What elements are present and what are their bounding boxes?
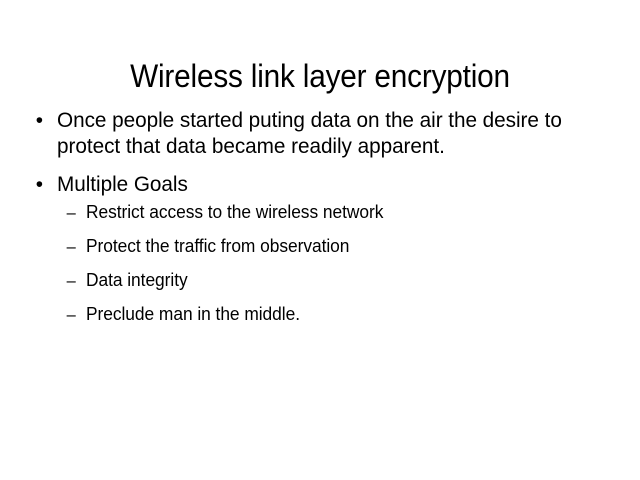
bullet-marker-dot-icon: • <box>36 172 43 198</box>
bullet-marker-dot-icon: • <box>36 108 43 134</box>
sub-bullet-text: Preclude man in the middle. <box>86 304 300 324</box>
bullet-text: Once people started puting data on the a… <box>57 108 583 159</box>
sub-bullet-text: Protect the traffic from observation <box>86 236 349 256</box>
sub-bullet-item: – Restrict access to the wireless networ… <box>30 202 590 223</box>
bullet-item: • Multiple Goals <box>30 172 590 198</box>
sub-bullet-text: Data integrity <box>86 270 188 290</box>
sub-bullet-item: – Protect the traffic from observation <box>30 236 590 257</box>
bullet-item: • Once people started puting data on the… <box>30 108 590 159</box>
bullet-marker-dash-icon: – <box>67 270 76 291</box>
bullet-marker-dash-icon: – <box>67 202 76 223</box>
sub-bullet-item: – Data integrity <box>30 270 590 291</box>
slide-title: Wireless link layer encryption <box>22 57 617 95</box>
sub-bullet-list: – Restrict access to the wireless networ… <box>30 202 610 325</box>
bullet-text: Multiple Goals <box>57 172 583 198</box>
slide-body-outline: • Once people started puting data on the… <box>30 108 610 325</box>
presentation-slide: Wireless link layer encryption • Once pe… <box>0 0 640 480</box>
sub-bullet-text: Restrict access to the wireless network <box>86 202 383 222</box>
bullet-marker-dash-icon: – <box>67 236 76 257</box>
sub-bullet-item: – Preclude man in the middle. <box>30 304 590 325</box>
bullet-marker-dash-icon: – <box>67 304 76 325</box>
